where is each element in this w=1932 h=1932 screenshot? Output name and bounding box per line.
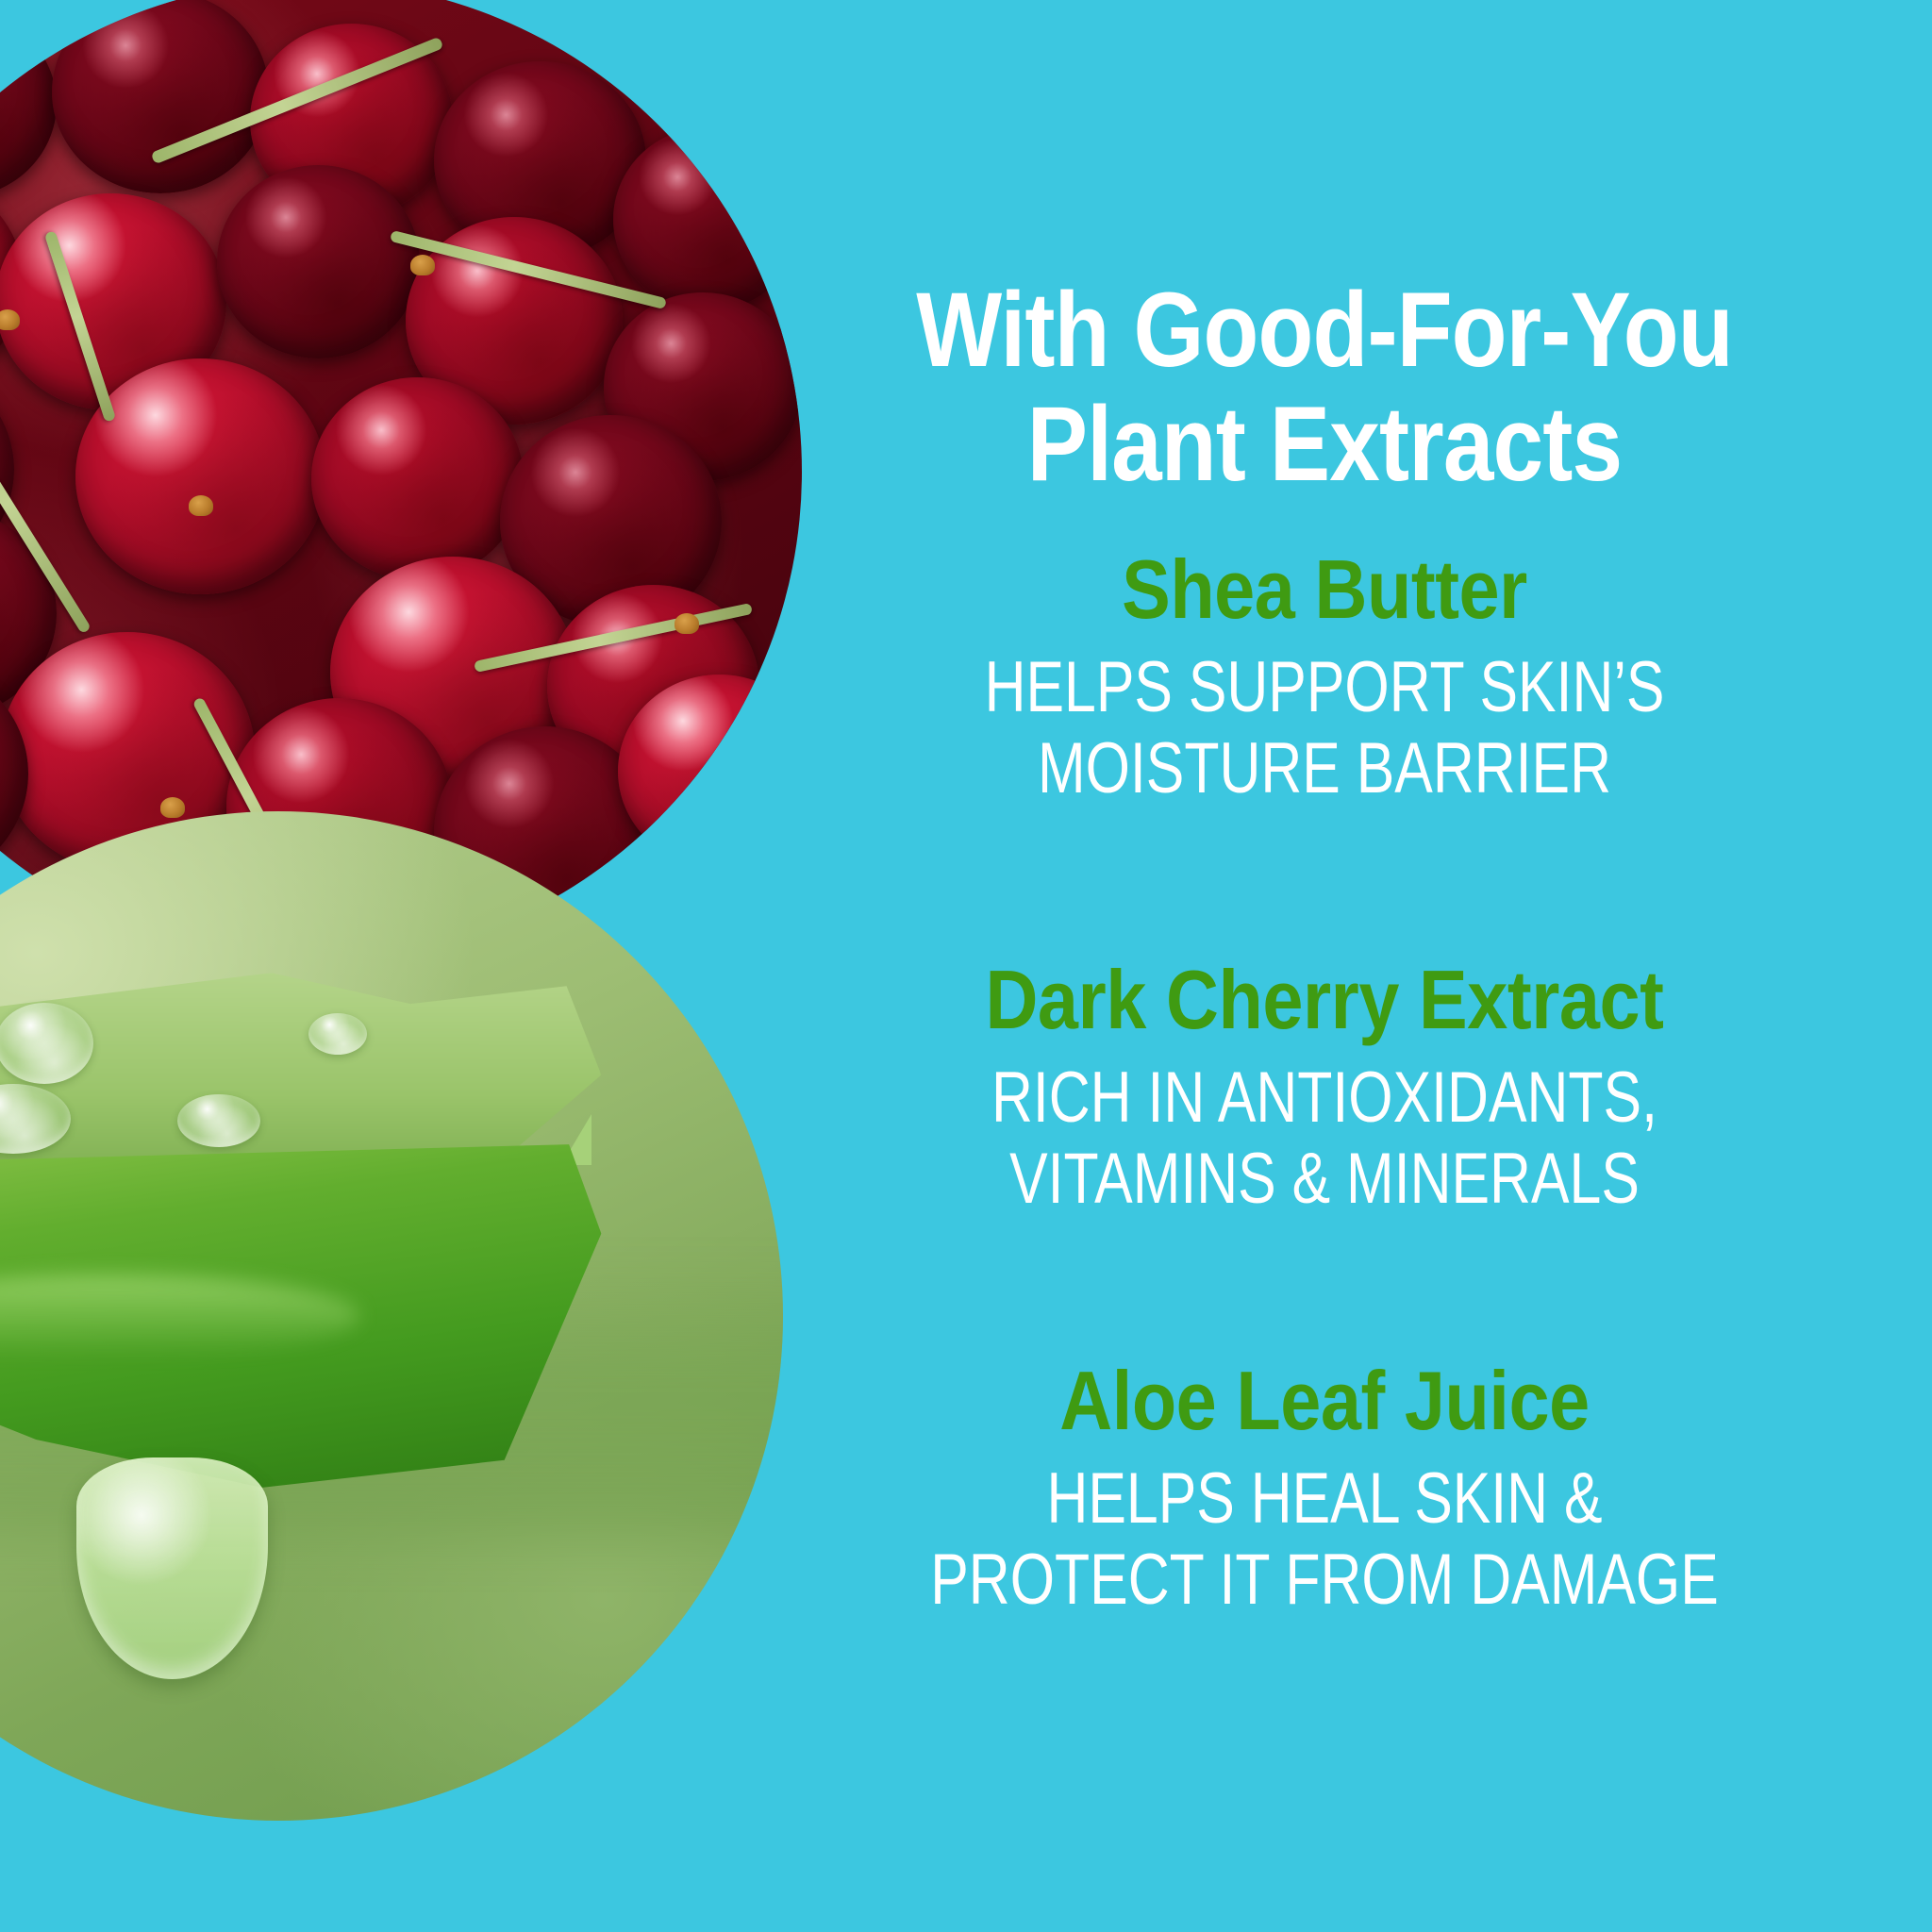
ingredient-name-dark-cherry-extract: Dark Cherry Extract (790, 958, 1858, 1042)
cherry-stem-tip (675, 613, 699, 634)
cherry-photo-circle (0, 0, 802, 962)
aloe-photo-circle (0, 811, 783, 1821)
description-line: HELPS HEAL SKIN & (839, 1458, 1810, 1541)
cherry-berry (217, 165, 420, 358)
aloe-slab-highlight (0, 1274, 359, 1357)
description-line: PROTECT IT FROM DAMAGE (839, 1540, 1810, 1622)
ingredient-block-aloe-leaf-juice: Aloe Leaf Juice HELPS HEAL SKIN & PROTEC… (717, 1358, 1932, 1622)
product-graphic: With Good-For-You Plant Extracts Shea Bu… (0, 0, 1932, 1932)
cherry-stem-tip (0, 309, 20, 330)
ingredient-name-aloe-leaf-juice: Aloe Leaf Juice (790, 1358, 1858, 1443)
description-line: HELPS SUPPORT SKIN’S (839, 647, 1810, 729)
cherry-berry (0, 9, 57, 198)
ingredient-block-shea-butter: Shea Butter HELPS SUPPORT SKIN’S MOISTUR… (717, 547, 1932, 810)
cherry-berry (75, 358, 325, 594)
cherry-cluster (0, 0, 802, 962)
description-line: VITAMINS & MINERALS (839, 1139, 1810, 1221)
cherry-stem-tip (410, 255, 435, 275)
cherry-berry (52, 0, 269, 193)
ingredient-description-shea-butter: HELPS SUPPORT SKIN’S MOISTURE BARRIER (839, 647, 1810, 810)
description-line: MOISTURE BARRIER (839, 728, 1810, 810)
ingredient-block-dark-cherry-extract: Dark Cherry Extract RICH IN ANTIOXIDANTS… (717, 958, 1932, 1221)
headline-line-2: Plant Extracts (802, 388, 1847, 502)
text-column: With Good-For-You Plant Extracts Shea Bu… (717, 0, 1932, 1932)
ingredient-description-aloe-leaf-juice: HELPS HEAL SKIN & PROTECT IT FROM DAMAGE (839, 1458, 1810, 1622)
water-droplet (308, 1013, 367, 1055)
water-droplet (177, 1094, 260, 1147)
headline-line-1: With Good-For-You (802, 274, 1847, 388)
cherry-berry (311, 377, 524, 580)
page-title: With Good-For-You Plant Extracts (802, 274, 1847, 502)
ingredient-description-dark-cherry-extract: RICH IN ANTIOXIDANTS, VITAMINS & MINERAL… (839, 1058, 1810, 1221)
description-line: RICH IN ANTIOXIDANTS, (839, 1058, 1810, 1140)
ingredient-name-shea-butter: Shea Butter (790, 547, 1858, 632)
aloe-leaf-slab (0, 1144, 601, 1488)
aloe-gel-drip (76, 1457, 268, 1679)
cherry-stem-tip (160, 797, 185, 818)
cherry-stem-tip (189, 495, 213, 516)
